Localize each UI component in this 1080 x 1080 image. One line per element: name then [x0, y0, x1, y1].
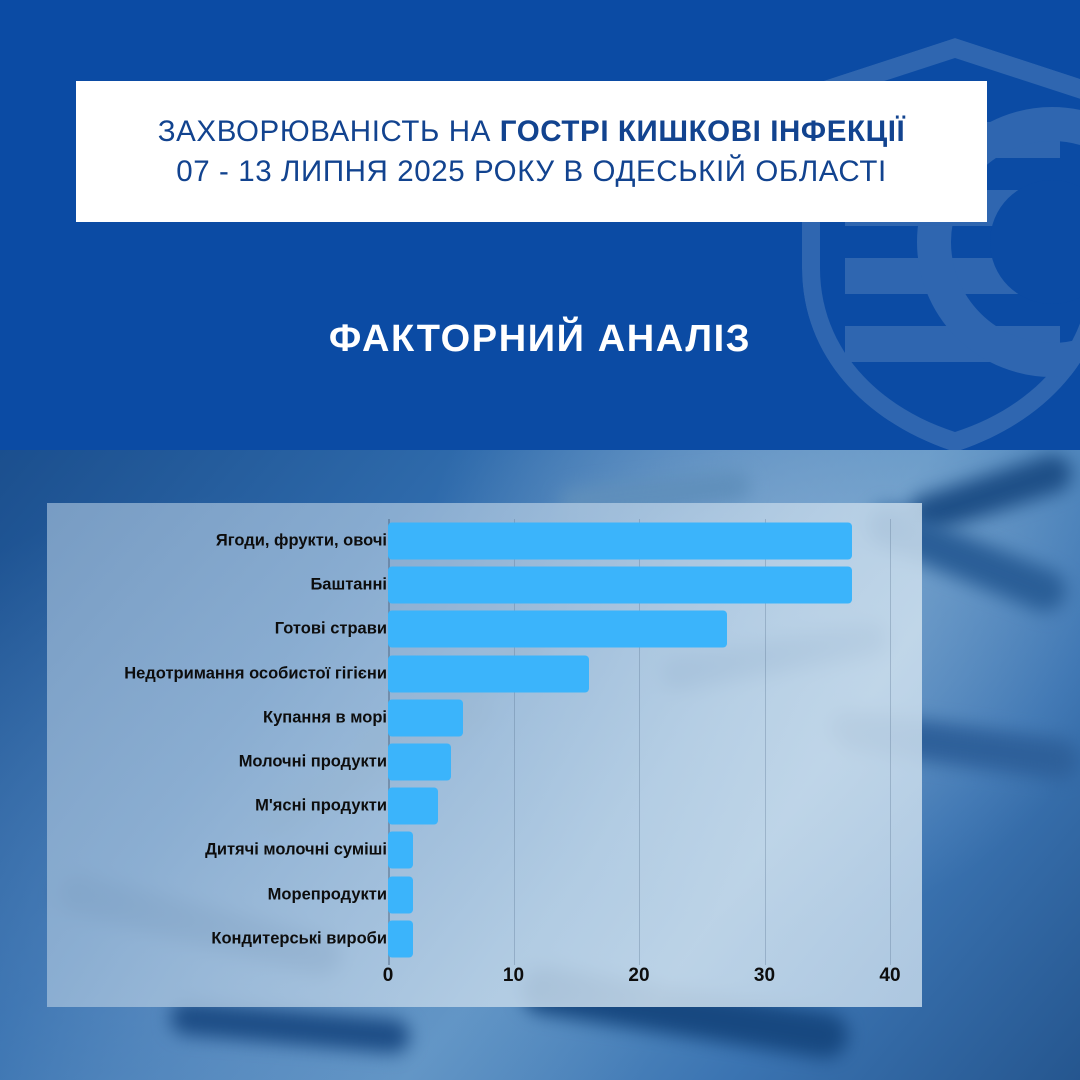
category-label: Морепродукти [268, 885, 387, 904]
bar [388, 788, 438, 825]
section-subtitle: ФАКТОРНИЙ АНАЛІЗ [0, 318, 1080, 361]
chart-row: Купання в морі [47, 696, 922, 740]
chart-panel: Ягоди, фрукти, овочіБаштанніГотові страв… [47, 503, 922, 1007]
chart-row: М'ясні продукти [47, 784, 922, 828]
category-label: Баштанні [310, 576, 387, 595]
x-tick-label: 30 [754, 965, 775, 987]
category-label: Дитячі молочні суміші [205, 841, 387, 860]
chart-row: Готові страви [47, 607, 922, 651]
category-label: Недотримання особистої гігієни [124, 664, 387, 683]
bar [388, 567, 852, 604]
chart-row: Молочні продукти [47, 740, 922, 784]
category-label: Молочні продукти [239, 753, 387, 772]
title-bold-part: ГОСТРІ КИШКОВІ ІНФЕКЦІЇ [500, 115, 905, 148]
title-normal-part: ЗАХВОРЮВАНІСТЬ НА [158, 115, 500, 148]
category-label: М'ясні продукти [255, 797, 387, 816]
header-banner: ЗАХВОРЮВАНІСТЬ НА ГОСТРІ КИШКОВІ ІНФЕКЦІ… [0, 0, 1080, 450]
chart-row: Ягоди, фрукти, овочі [47, 519, 922, 563]
chart-row: Недотримання особистої гігієни [47, 652, 922, 696]
bar [388, 699, 463, 736]
category-label: Ягоди, фрукти, овочі [216, 532, 387, 551]
page-title-line-1: ЗАХВОРЮВАНІСТЬ НА ГОСТРІ КИШКОВІ ІНФЕКЦІ… [158, 115, 906, 149]
bar [388, 523, 852, 560]
page-title-line-2: 07 - 13 ЛИПНЯ 2025 РОКУ В ОДЕСЬКІЙ ОБЛАС… [176, 155, 887, 189]
x-tick-label: 10 [503, 965, 524, 987]
infographic-page: ЗАХВОРЮВАНІСТЬ НА ГОСТРІ КИШКОВІ ІНФЕКЦІ… [0, 0, 1080, 1080]
chart-row: Морепродукти [47, 873, 922, 917]
x-tick-label: 40 [879, 965, 900, 987]
category-label: Кондитерські вироби [211, 929, 387, 948]
category-label: Купання в морі [263, 708, 387, 727]
bar-chart: Ягоди, фрукти, овочіБаштанніГотові страв… [47, 503, 922, 1007]
x-tick-label: 20 [628, 965, 649, 987]
category-label: Готові страви [275, 620, 387, 639]
bar [388, 876, 413, 913]
chart-row: Баштанні [47, 563, 922, 607]
x-tick-label: 0 [383, 965, 394, 987]
bacteria-rod-icon [169, 1000, 411, 1055]
bar [388, 744, 451, 781]
chart-row: Кондитерські вироби [47, 917, 922, 961]
bar [388, 655, 589, 692]
title-card: ЗАХВОРЮВАНІСТЬ НА ГОСТРІ КИШКОВІ ІНФЕКЦІ… [76, 81, 987, 222]
bar [388, 611, 727, 648]
bar [388, 832, 413, 869]
bar [388, 920, 413, 957]
chart-row: Дитячі молочні суміші [47, 828, 922, 872]
